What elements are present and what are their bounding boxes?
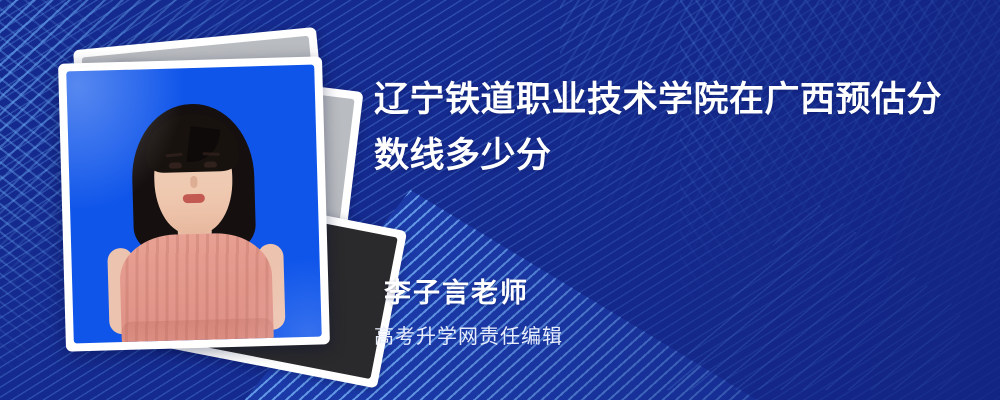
author-photo <box>66 65 321 344</box>
banner-text-block: 辽宁铁道职业技术学院在广西预估分数线多少分 李子言老师 高考升学网责任编辑 <box>374 0 1000 400</box>
page-title: 辽宁铁道职业技术学院在广西预估分数线多少分 <box>374 72 964 184</box>
article-header-banner: 辽宁铁道职业技术学院在广西预估分数线多少分 李子言老师 高考升学网责任编辑 <box>0 0 1000 400</box>
portrait-lips <box>183 194 205 204</box>
author-photo-card <box>58 56 330 351</box>
photo-highlight-corner <box>230 256 322 343</box>
portrait-nose <box>190 176 197 188</box>
portrait-eye-left <box>169 162 182 168</box>
portrait-eye-right <box>204 161 217 167</box>
author-role: 高考升学网责任编辑 <box>374 320 563 349</box>
author-name: 李子言老师 <box>384 271 529 310</box>
photo-card-stack <box>52 40 352 360</box>
